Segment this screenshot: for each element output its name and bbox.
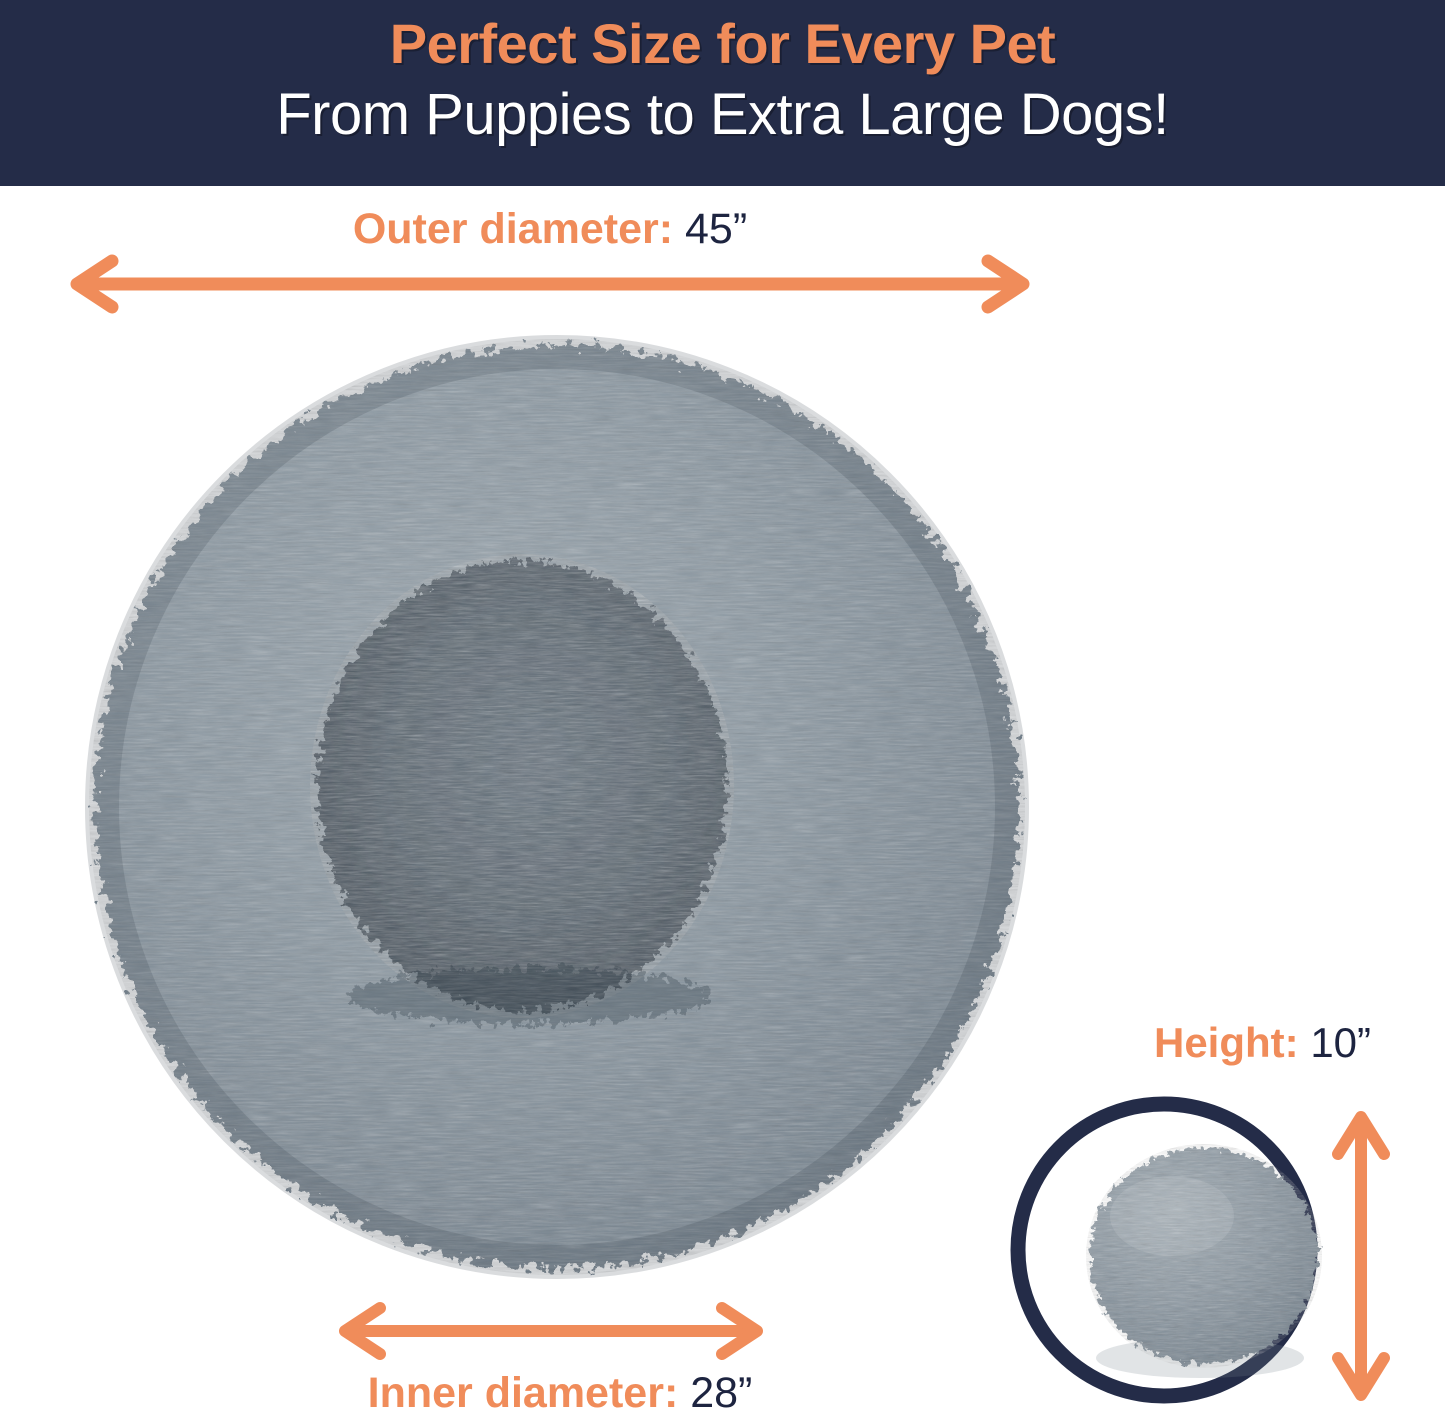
pet-bed-side-view-graphic (1004, 1090, 1324, 1410)
inner-diameter-label: Inner diameter: 28” (300, 1372, 820, 1415)
page-title: Perfect Size for Every Pet (0, 16, 1445, 72)
inner-diameter-value: 28” (690, 1369, 752, 1417)
height-name: Height: (1154, 1019, 1299, 1066)
outer-diameter-value: 45” (685, 205, 747, 253)
height-value: 10” (1310, 1019, 1371, 1066)
inner-diameter-arrow-icon (332, 1300, 770, 1362)
page-subtitle: From Puppies to Extra Large Dogs! (0, 86, 1445, 144)
pet-bed-side-view-inset (1004, 1090, 1324, 1410)
pet-bed-top-view-image (74, 324, 1040, 1290)
height-arrow-icon (1330, 1106, 1392, 1406)
height-label: Height: 10” (1080, 1022, 1445, 1064)
outer-diameter-label: Outer diameter: 45” (0, 208, 1100, 251)
outer-diameter-name: Outer diameter: (353, 205, 673, 253)
infographic-page: Perfect Size for Every Pet From Puppies … (0, 0, 1445, 1421)
header-banner: Perfect Size for Every Pet From Puppies … (0, 0, 1445, 186)
inner-diameter-name: Inner diameter: (368, 1369, 679, 1417)
outer-diameter-arrow-icon (64, 253, 1036, 315)
pet-bed-top-view-graphic (74, 324, 1040, 1290)
